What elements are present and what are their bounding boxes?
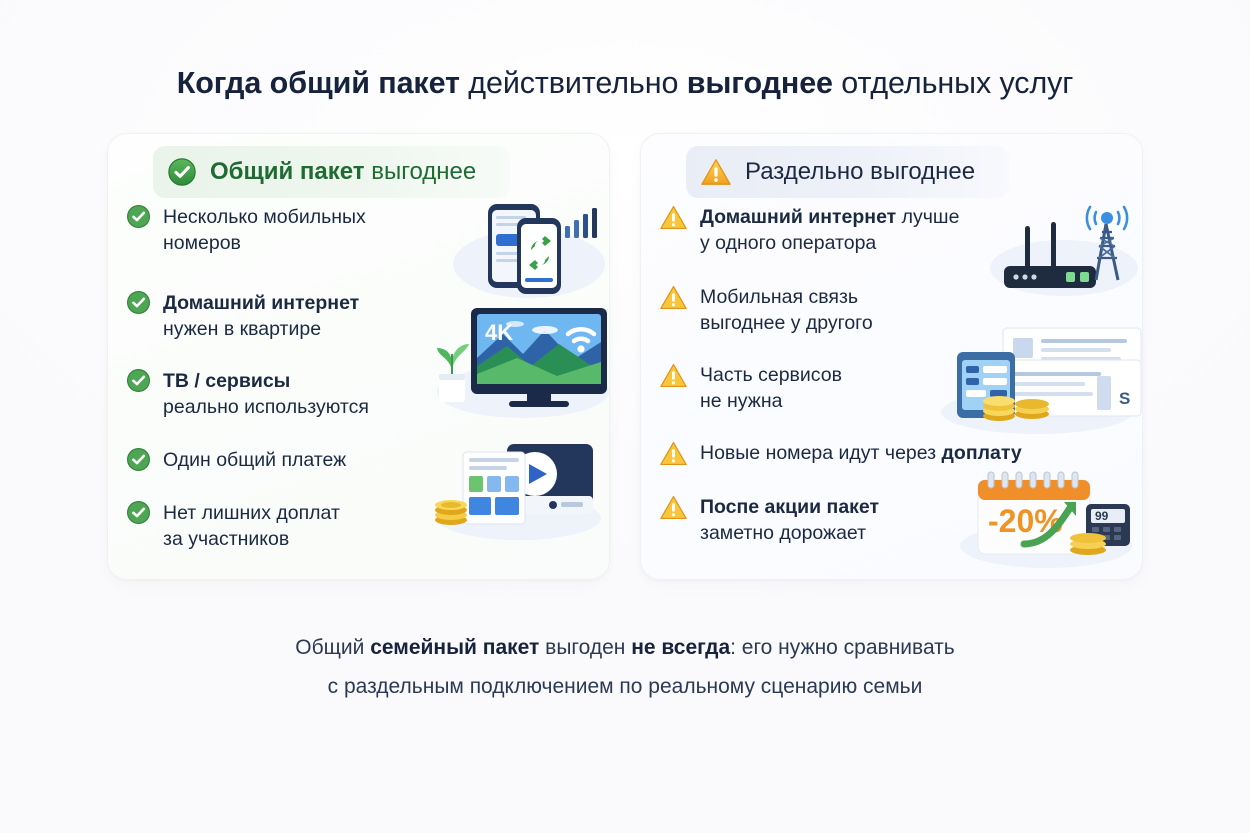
footer-line-2-text: с раздельным подключением по реальному с…: [328, 675, 923, 698]
list-item-line-2: за участников: [163, 526, 340, 552]
left-card-header-regular: выгоднее: [365, 158, 477, 185]
page-title-part-2: действительно: [460, 66, 687, 100]
router-cell-tower-illustration: [986, 194, 1143, 298]
list-item-text: Нет лишних доплат за участников: [163, 500, 340, 552]
list-item: ТВ / сервисы реально используются: [126, 368, 369, 420]
check-circle-icon: [126, 447, 151, 472]
warning-triangle-icon: [659, 204, 688, 231]
left-card-header-text: Общий пакет выгоднее: [210, 158, 476, 186]
page-title-part-3: выгоднее: [687, 66, 833, 100]
line1-regular: Несколько мобильных: [163, 206, 366, 228]
warning-triangle-icon: [700, 157, 732, 187]
list-item-line-1: Домашний интернет: [163, 290, 359, 316]
right-card-header-regular: Раздельно выгоднее: [745, 158, 975, 185]
list-item: Один общий платеж: [126, 447, 346, 473]
check-circle-icon: [126, 500, 151, 525]
line2-regular: выгоднее у другого: [700, 312, 873, 334]
right-card-header-text: Раздельно выгоднее: [745, 158, 975, 186]
footer-summary: Общий семейный пакет выгоден не всегда: …: [0, 628, 1250, 706]
svg-text:4K: 4K: [485, 320, 513, 345]
footer-line-2: с раздельным подключением по реальному с…: [0, 667, 1250, 706]
tablet-documents-coins-illustration: S: [933, 324, 1143, 436]
check-circle-icon: [126, 204, 151, 229]
list-item: Поспе акции пакет заметно дорожает: [659, 494, 879, 546]
warning-triangle-icon: [659, 362, 688, 389]
line2-regular: заметно дорожает: [700, 522, 866, 544]
list-item: Мобильная связь выгоднее у другого: [659, 284, 873, 336]
line2-regular: не нужна: [700, 390, 782, 412]
list-item-line-1: ТВ / сервисы: [163, 368, 369, 394]
list-item-line-1: Новые номера идут через доплату: [700, 440, 1022, 466]
line1-trailing-bold: доплату: [942, 442, 1022, 464]
list-item-line-2: нужен в квартире: [163, 316, 359, 342]
line1-bold: ТВ / сервисы: [163, 370, 290, 392]
list-item-line-1: Поспе акции пакет: [700, 494, 879, 520]
right-card-header: Раздельно выгоднее: [686, 146, 1009, 198]
line2-regular: реально используются: [163, 396, 369, 418]
list-item-text: Часть сервисов не нужна: [700, 362, 842, 414]
card-package-better: Общий пакет выгоднее: [107, 133, 610, 580]
line2-regular: за участников: [163, 528, 289, 550]
list-item-text: Домашний интернет нужен в квартире: [163, 290, 359, 342]
svg-text:99: 99: [1095, 509, 1109, 523]
list-item-line-2: выгоднее у другого: [700, 310, 873, 336]
footer-line-1: Общий семейный пакет выгоден не всегда: …: [0, 628, 1250, 667]
list-item-text: Поспе акции пакет заметно дорожает: [700, 494, 879, 546]
list-item: Нет лишних доплат за участников: [126, 500, 340, 552]
page-title-part-1: Когда общий пакет: [177, 66, 460, 100]
list-item-text: Один общий платеж: [163, 447, 346, 473]
infographic-page: Когда общий пакет действительно выгоднее…: [0, 0, 1250, 833]
media-player-coins-illustration: [427, 434, 607, 542]
list-item-line-1: Часть сервисов: [700, 362, 842, 388]
list-item-line-1: Несколько мобильных: [163, 204, 366, 230]
list-item-text: ТВ / сервисы реально используются: [163, 368, 369, 420]
list-item-line-2: у одного оператора: [700, 230, 959, 256]
page-title: Когда общий пакет действительно выгоднее…: [0, 64, 1250, 102]
line2-regular: номеров: [163, 232, 241, 254]
line1-regular: Нет лишних доплат: [163, 502, 340, 524]
footer-part-e: : его нужно сравнивать: [730, 636, 955, 659]
list-item-text: Несколько мобильных номеров: [163, 204, 366, 256]
line1-regular: Часть сервисов: [700, 364, 842, 386]
page-title-part-4: отдельных услуг: [833, 66, 1073, 100]
check-circle-icon: [126, 368, 151, 393]
footer-part-c: выгоден: [539, 636, 631, 659]
tv-4k-wifi-illustration: 4K: [427, 300, 610, 422]
left-card-header: Общий пакет выгоднее: [153, 146, 510, 198]
check-circle-icon: [126, 290, 151, 315]
card-separate-better: Раздельно выгоднее: [640, 133, 1143, 580]
line1-bold: Домашний интернет: [700, 206, 896, 228]
line1-bold: Домашний интернет: [163, 292, 359, 314]
line1-regular: лучше: [896, 206, 959, 228]
list-item: Несколько мобильных номеров: [126, 204, 366, 256]
list-item: Домашний интернет лучше у одного операто…: [659, 204, 959, 256]
two-phones-signal-illustration: [443, 192, 610, 300]
warning-triangle-icon: [659, 494, 688, 521]
calendar-discount-illustration: -20% 99: [954, 464, 1140, 568]
page-title-wrapper: Когда общий пакет действительно выгоднее…: [0, 64, 1250, 102]
footer-part-a: Общий: [295, 636, 370, 659]
svg-text:-20%: -20%: [988, 503, 1063, 539]
left-card-header-bold: Общий пакет: [210, 158, 365, 185]
check-circle-icon: [167, 157, 197, 187]
line1-bold: Поспе акции пакет: [700, 496, 879, 518]
footer-part-b: семейный пакет: [370, 636, 539, 659]
list-item-text: Новые номера идут через доплату: [700, 440, 1022, 466]
footer-part-d: не всегда: [631, 636, 730, 659]
list-item: Часть сервисов не нужна: [659, 362, 842, 414]
list-item-line-1: Один общий платеж: [163, 447, 346, 473]
list-item-text: Домашний интернет лучше у одного операто…: [700, 204, 959, 256]
warning-triangle-icon: [659, 440, 688, 467]
list-item-line-2: заметно дорожает: [700, 520, 879, 546]
list-item: Домашний интернет нужен в квартире: [126, 290, 359, 342]
line2-regular: у одного оператора: [700, 232, 876, 254]
comparison-cards: Общий пакет выгоднее: [107, 133, 1143, 580]
line1-regular: Новые номера идут через: [700, 442, 942, 464]
list-item-text: Мобильная связь выгоднее у другого: [700, 284, 873, 336]
line2-regular: нужен в квартире: [163, 318, 321, 340]
svg-text:S: S: [1119, 389, 1130, 408]
list-item-line-2: номеров: [163, 230, 366, 256]
list-item-line-2: реально используются: [163, 394, 369, 420]
list-item-line-1: Домашний интернет лучше: [700, 204, 959, 230]
list-item: Новые номера идут через доплату: [659, 440, 1022, 467]
list-item-line-1: Нет лишних доплат: [163, 500, 340, 526]
line1-regular: Один общий платеж: [163, 449, 346, 471]
list-item-line-1: Мобильная связь: [700, 284, 873, 310]
list-item-line-2: не нужна: [700, 388, 842, 414]
line1-regular: Мобильная связь: [700, 286, 858, 308]
warning-triangle-icon: [659, 284, 688, 311]
